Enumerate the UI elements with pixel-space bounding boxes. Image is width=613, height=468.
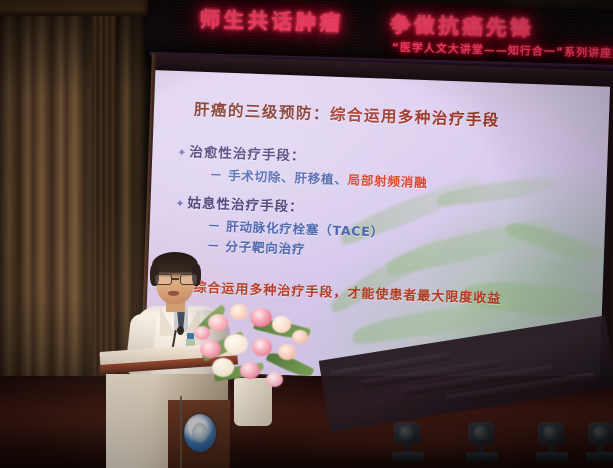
- stage-light-base: [466, 452, 498, 462]
- slide-bullet-heading: 治愈性治疗手段：: [189, 143, 306, 166]
- slide-title-part2: 综合运用多种治疗手段: [330, 106, 501, 130]
- water-bottle-cap: [187, 333, 194, 339]
- stage-light-lens: [593, 425, 609, 441]
- stage-light-base: [536, 452, 568, 462]
- flower-arrangement: [196, 296, 326, 426]
- stage-light-base: [586, 452, 613, 462]
- slide-sub-highlight: 局部射频消融: [347, 172, 427, 190]
- stage-light-lens: [543, 425, 559, 441]
- slide-sub-prefix: －: [207, 218, 226, 234]
- led-banner-line1: 师生共话肿瘤 争做抗癌先锋: [199, 3, 534, 42]
- curtain-valance: [0, 0, 160, 16]
- slide-sub-text: 肝动脉化疗栓塞（TACE）: [226, 219, 384, 240]
- slide-sub-prefix: －: [209, 167, 228, 183]
- stage-light-lens: [399, 425, 415, 441]
- slide-title-part1: 肝癌的三级预防：: [194, 101, 331, 124]
- glasses-lens-right: [180, 274, 197, 285]
- diamond-bullet-icon: ✦: [172, 194, 188, 214]
- stage-light-fixture: [466, 422, 500, 462]
- speaker-glasses: [155, 274, 195, 283]
- slide-sub-text: 手术切除、肝移植、: [228, 168, 348, 187]
- microphone-cable: [180, 396, 182, 468]
- lecture-hall-photo: 师生共话肿瘤 争做抗癌先锋 “医学人文大讲堂——知行合一”系列讲座第二 肝癌的三…: [0, 0, 613, 468]
- stage-light-lens: [473, 425, 489, 441]
- stage-light-base: [392, 452, 424, 462]
- led-banner-line1-part1: 师生共话肿瘤: [199, 7, 344, 35]
- slide-bullet-heading: 姑息性治疗手段：: [187, 194, 304, 217]
- glasses-bridge: [171, 278, 179, 280]
- slide-title: 肝癌的三级预防：综合运用多种治疗手段: [194, 98, 501, 131]
- stage-light-fixture: [392, 422, 426, 462]
- microphone-head: [177, 326, 184, 335]
- stage-light-fixture: [586, 422, 613, 462]
- led-banner-line1-part2: 争做抗癌先锋: [390, 13, 535, 41]
- stage-light-fixture: [536, 422, 570, 462]
- glasses-lens-left: [155, 274, 172, 285]
- led-banner-gap: [353, 31, 379, 32]
- slide-bullet-list: ✦ 治愈性治疗手段： － 手术切除、肝移植、局部射频消融 ✦ 姑息性治疗手段： …: [171, 143, 595, 270]
- led-banner-line2: “医学人文大讲堂——知行合一”系列讲座第二: [391, 39, 613, 62]
- flower-vase: [234, 378, 272, 426]
- diamond-bullet-icon: ✦: [174, 143, 190, 163]
- slide-sub-text: 分子靶向治疗: [225, 239, 305, 257]
- speaker-mouth: [168, 291, 179, 296]
